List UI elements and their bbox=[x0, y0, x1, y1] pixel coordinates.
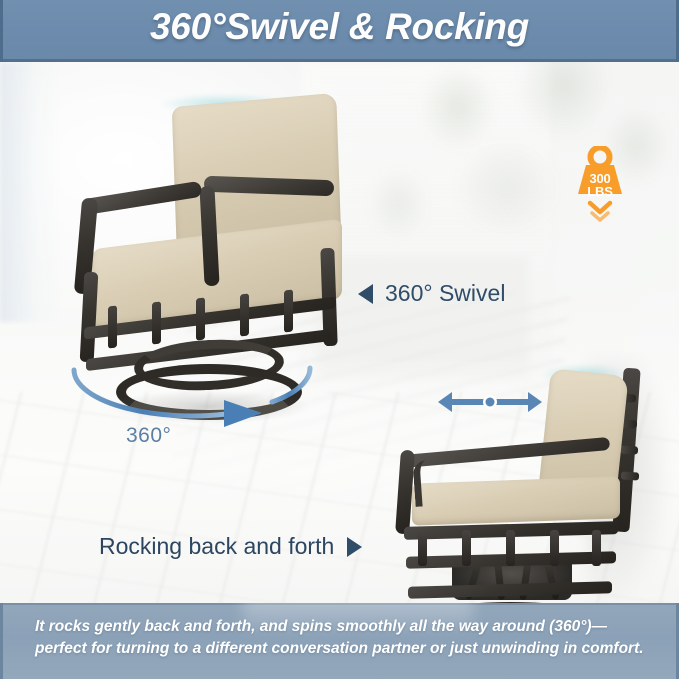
triangle-right-icon bbox=[347, 537, 362, 557]
frame-slat bbox=[506, 530, 515, 566]
frame-slat bbox=[550, 530, 559, 566]
product-feature-graphic: 360°Swivel & Rocking bbox=[0, 0, 679, 679]
swivel-annotation-label: 360° Swivel bbox=[385, 280, 505, 307]
frame-slat bbox=[418, 530, 427, 566]
rotation-degrees-label: 360° bbox=[126, 424, 171, 448]
frame-slat bbox=[592, 530, 601, 566]
product-photo: 360° bbox=[0, 62, 679, 603]
armrest-curve bbox=[412, 459, 444, 507]
rocking-annotation: Rocking back and forth bbox=[99, 533, 362, 560]
header-banner: 360°Swivel & Rocking bbox=[0, 0, 679, 62]
back-slat bbox=[620, 445, 639, 454]
footer-caption-text: It rocks gently back and forth, and spin… bbox=[35, 616, 650, 660]
weight-unit: LBS bbox=[570, 185, 630, 198]
rotation-arc-indicator bbox=[66, 330, 316, 440]
banner-title: 360°Swivel & Rocking bbox=[3, 6, 676, 48]
rocking-double-arrow bbox=[436, 388, 544, 416]
chevron-down-icon bbox=[590, 203, 610, 212]
frame-slat bbox=[284, 289, 293, 332]
weight-capacity-badge: 300 LBS bbox=[570, 146, 630, 228]
swivel-annotation: 360° Swivel bbox=[358, 280, 505, 307]
footer-caption-bar: It rocks gently back and forth, and spin… bbox=[0, 603, 679, 679]
back-slat bbox=[621, 471, 640, 480]
triangle-left-icon bbox=[358, 284, 373, 304]
rocking-annotation-label: Rocking back and forth bbox=[99, 533, 334, 560]
frame-slat bbox=[462, 530, 471, 566]
